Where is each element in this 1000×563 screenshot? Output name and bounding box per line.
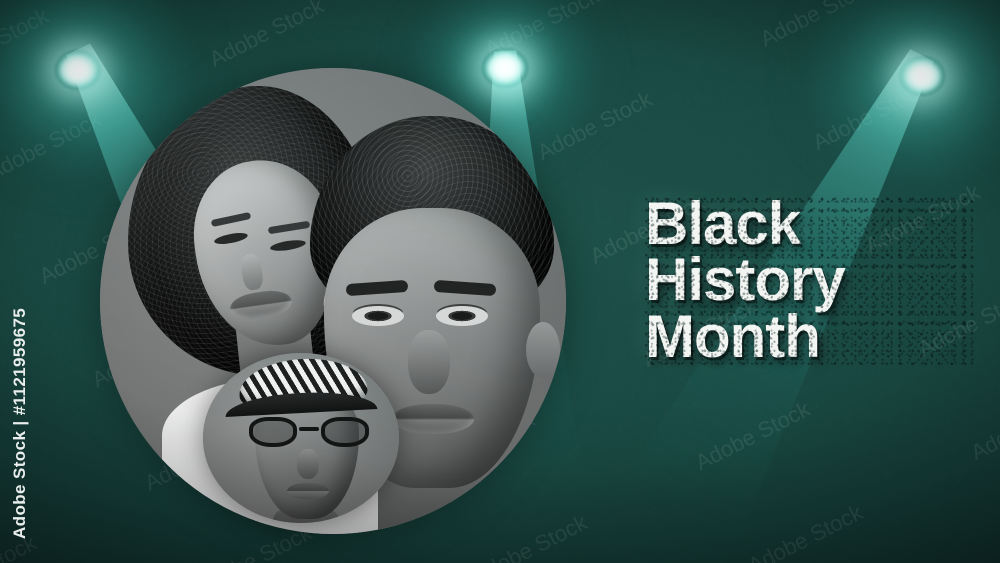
man-ear — [526, 322, 560, 378]
man-lips — [392, 404, 474, 434]
glasses-lens-left — [249, 417, 297, 447]
capman-nose — [297, 449, 319, 479]
headline-line-3: Month — [645, 309, 975, 365]
man-nose — [408, 330, 450, 394]
man-eye-right — [436, 306, 488, 326]
portrait-circle-small — [203, 353, 399, 523]
man-eye-left — [352, 306, 404, 326]
headline-title: Black History Month — [645, 196, 975, 365]
headline-line-1: Black — [645, 196, 975, 252]
capman-glasses-icon — [247, 417, 371, 447]
banner-canvas: Adobe StockAdobe StockAdobe StockAdobe S… — [0, 0, 1000, 563]
glasses-lens-right — [321, 417, 369, 447]
capman-lips — [287, 483, 329, 499]
glasses-bridge — [299, 427, 319, 431]
headline-line-2: History — [645, 252, 975, 308]
